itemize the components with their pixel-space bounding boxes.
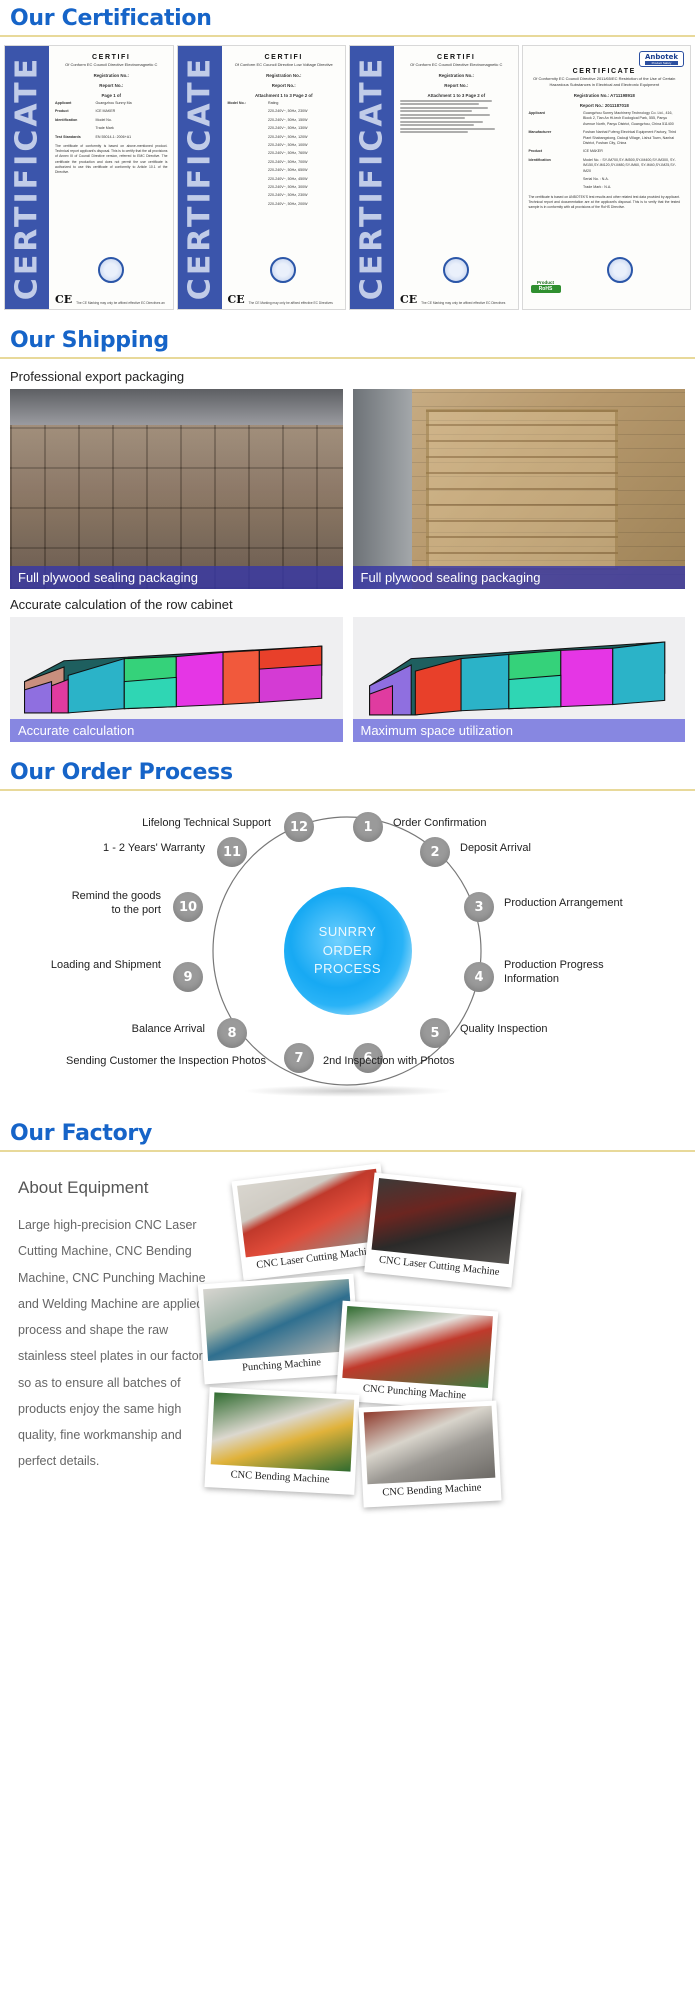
process-core-badge: SUNRRY ORDER PROCESS — [284, 887, 412, 1015]
process-node-9[interactable]: 9 — [173, 962, 203, 992]
row-key — [55, 126, 96, 131]
registration-value: A711198918 — [610, 93, 635, 98]
crate-photo — [353, 389, 686, 589]
rating-value: 220-240V~, 50Hz, 230W — [268, 109, 340, 114]
certificate-card[interactable]: CERTIFICATE CERTIFI Of Conform EC Counci… — [177, 45, 347, 310]
certificate-subtitle: Of Conformity EC Council Directive 2011/… — [529, 76, 681, 88]
certificate-body: Anbotek Product Safety CERTIFICATE Of Co… — [523, 46, 691, 309]
row-key: Applicant — [529, 111, 584, 127]
row-value: Trade Mark — [96, 126, 168, 131]
about-equipment-block: About Equipment Large high-precision CNC… — [10, 1166, 225, 1496]
page-title-factory: Our Factory — [10, 1121, 685, 1146]
certificate-side-band: CERTIFICATE — [5, 46, 49, 309]
section-shipping: Our Shipping Professional export packagi… — [0, 322, 695, 742]
factory-photo-collage: CNC Laser Cutting Machine CNC Laser Cutt… — [229, 1166, 685, 1496]
certificate-title: CERTIFI — [55, 54, 168, 61]
factory-content: About Equipment Large high-precision CNC… — [0, 1160, 695, 1496]
certificate-row: Product ICE MAKER — [55, 109, 168, 114]
rating-value: 220-240V~, 50Hz, 760W — [268, 151, 340, 156]
rating-row: 220-240V~, 50Hz, 100W — [228, 143, 341, 148]
anbotek-tagline: Product Safety — [645, 61, 678, 65]
calculation-diagram-2[interactable]: Maximum space utilization — [353, 617, 686, 742]
certificate-gallery: CERTIFICATE CERTIFI Of Conform EC Counci… — [0, 45, 695, 310]
rohs-main-text: RoHS — [531, 285, 561, 293]
registration-label: Registration No.: — [574, 93, 609, 98]
certificate-registration-label: Registration No.: — [55, 73, 168, 78]
model-label: Model No.: — [228, 101, 269, 106]
about-equipment-heading: About Equipment — [18, 1178, 219, 1198]
certificate-side-band: CERTIFICATE — [350, 46, 394, 309]
process-node-11[interactable]: 11 — [217, 837, 247, 867]
certificate-side-band: CERTIFICATE — [178, 46, 222, 309]
certification-header: Our Certification — [0, 0, 695, 37]
ce-mark-icon: CE — [228, 293, 245, 306]
row-key: Manufacturer — [529, 130, 584, 146]
row-value: Trade Mark : N.A. — [583, 185, 680, 190]
row-value: Serial No. : N.A. — [583, 177, 680, 182]
process-label-11: 1 - 2 Years' Warranty — [103, 842, 205, 856]
process-node-2[interactable]: 2 — [420, 837, 450, 867]
process-node-3[interactable]: 3 — [464, 892, 494, 922]
order-process-header: Our Order Process — [0, 754, 695, 791]
rating-value: 220-240V~, 50Hz, 130W — [268, 126, 340, 131]
certificate-paragraph: The certificate is based on ANBOTEK'S te… — [529, 195, 681, 211]
process-label-7: Sending Customer the Inspection Photos — [66, 1055, 266, 1069]
packaging-photo-1[interactable]: Full plywood sealing packaging — [10, 389, 343, 589]
process-node-4[interactable]: 4 — [464, 962, 494, 992]
row-value: ICE MAKER — [96, 109, 168, 114]
page-title-shipping: Our Shipping — [10, 328, 685, 353]
rating-row: 220-240V~, 50Hz, 120W — [228, 135, 341, 140]
certificate-row: Applicant Guangzhou Sunrry Ma — [55, 101, 168, 106]
row-value: Foshan Nanhai Fufeng Electrical Equipmen… — [583, 130, 680, 146]
process-label-1: Order Confirmation — [393, 817, 487, 831]
process-label-6: 2nd Inspection with Photos — [323, 1055, 454, 1069]
rating-row: 220-240V~, 50Hz, 760W — [228, 151, 341, 156]
process-label-3: Production Arrangement — [504, 897, 623, 911]
certificate-band-text: CERTIFICATE — [355, 55, 390, 299]
ce-note: The CE Marking may only be affixed effec… — [249, 301, 339, 306]
rating-value: 220-240V~, 50Hz, 100W — [268, 143, 340, 148]
calculation-photo-row: Accurate calculation — [0, 617, 695, 742]
process-node-12[interactable]: 12 — [284, 812, 314, 842]
anbotek-name: Anbotek — [645, 53, 678, 61]
process-label-9: Loading and Shipment — [51, 959, 161, 973]
rating-row: 220-240V~, 50Hz, 130W — [228, 126, 341, 131]
process-label-2: Deposit Arrival — [460, 842, 531, 856]
process-label-8: Balance Arrival — [132, 1023, 205, 1037]
process-label-12: Lifelong Technical Support — [142, 817, 271, 831]
process-label-10: Remind the goods to the port — [61, 890, 161, 918]
rating-value: 220-240V~, 50Hz, 450W — [268, 177, 340, 182]
certificate-seal-icon — [270, 257, 296, 283]
certificate-title: CERTIFICATE — [529, 68, 681, 75]
certificate-title: CERTIFI — [400, 54, 513, 61]
certificate-seal-icon — [98, 257, 124, 283]
order-process-diagram: SUNRRY ORDER PROCESS 1 2 3 4 5 6 7 8 9 1… — [0, 799, 695, 1109]
certificate-title: CERTIFI — [228, 54, 341, 61]
packaging-photo-2[interactable]: Full plywood sealing packaging — [353, 389, 686, 589]
warehouse-photo — [10, 389, 343, 589]
anbotek-logo-icon: Anbotek Product Safety — [639, 51, 684, 67]
core-line-2: ORDER — [323, 942, 372, 961]
row-key: Applicant — [55, 101, 96, 106]
certificate-body: CERTIFI Of Conform EC Council Directive … — [222, 46, 346, 309]
certificate-row: Identification Model No. : SY-IM700,SY-I… — [529, 158, 681, 174]
factory-photo-5[interactable]: CNC Bending Machine — [204, 1387, 359, 1494]
certificate-row: Product ICE MAKER — [529, 149, 681, 154]
about-equipment-body: Large high-precision CNC Laser Cutting M… — [18, 1212, 219, 1475]
certificate-row: Serial No. : N.A. — [529, 177, 681, 182]
certificate-card[interactable]: CERTIFICATE CERTIFI Of Conform EC Counci… — [349, 45, 519, 310]
row-key: Identification — [55, 118, 96, 123]
section-certification: Our Certification CERTIFICATE CERTIFI Of… — [0, 0, 695, 310]
core-line-1: SUNRRY — [319, 923, 377, 942]
punching-machine-photo — [203, 1279, 354, 1361]
row-key: Product — [529, 149, 584, 154]
report-label: Report No.: — [580, 103, 604, 108]
factory-photo-2[interactable]: CNC Laser Cutting Machine — [364, 1173, 522, 1288]
ratings-header: Model No.: Rating — [228, 101, 341, 106]
row-value: Guangzhou Sunrry Ma — [96, 101, 168, 106]
certificate-report-label: Report No.: — [55, 83, 168, 88]
certificate-row: Identification Model No. — [55, 118, 168, 123]
certificate-page: Attachment 1 to 3 Page 2 of — [400, 93, 513, 98]
calculation-diagram-1[interactable]: Accurate calculation — [10, 617, 343, 742]
certificate-row: Trade Mark : N.A. — [529, 185, 681, 190]
rating-row: 220-240V~, 50Hz, 450W — [228, 177, 341, 182]
core-line-3: PROCESS — [314, 960, 381, 979]
rating-value: 220-240V~, 50Hz, 120W — [268, 135, 340, 140]
certificate-footer: CE The CE Marking may only be affixed ef… — [55, 293, 167, 306]
packaging-photo-row: Full plywood sealing packaging Full plyw… — [0, 389, 695, 589]
shipping-subtitle-packaging: Professional export packaging — [0, 367, 695, 389]
certificate-band-text: CERTIFICATE — [10, 55, 45, 299]
process-label-4: Production Progress Information — [504, 959, 634, 987]
rating-value: 220-240V~, 50Hz, 200W — [268, 202, 340, 207]
certificate-registration-label: Registration No.: — [400, 73, 513, 78]
certificate-row: Manufacturer Foshan Nanhai Fufeng Electr… — [529, 130, 681, 146]
certificate-subtitle: Of Conform EC Council Directive Electrom… — [55, 62, 168, 68]
photo-caption: Accurate calculation — [10, 719, 343, 742]
page-title-certification: Our Certification — [10, 6, 685, 31]
ce-mark-icon: CE — [400, 293, 417, 306]
certificate-body: CERTIFI Of Conform EC Council Directive … — [49, 46, 173, 309]
rating-row: 220-240V~, 50Hz, 300W — [228, 185, 341, 190]
row-value: Model No. : SY-IM700,SY-IM500,SY-IM400,S… — [583, 158, 680, 174]
photo-caption: Maximum space utilization — [353, 719, 686, 742]
process-node-5[interactable]: 5 — [420, 1018, 450, 1048]
certificate-row: Applicant Guangzhou Sunrry Machinery Tec… — [529, 111, 681, 127]
rating-row: 220-240V~, 50Hz, 230W — [228, 193, 341, 198]
rating-value: 220-240V~, 50Hz, 230W — [268, 193, 340, 198]
photo-caption: Full plywood sealing packaging — [353, 566, 686, 589]
rating-value: 220-240V~, 50Hz, 700W — [268, 160, 340, 165]
certificate-subtitle: Of Conform EC Council Directive Low Volt… — [228, 62, 341, 68]
rohs-logo-icon: Product RoHS — [531, 280, 561, 293]
rating-row: 220-240V~, 50Hz, 650W — [228, 168, 341, 173]
row-value: EN 55014-1: 2006+A1 — [96, 135, 168, 140]
certificate-band-text: CERTIFICATE — [182, 55, 217, 299]
rating-value: 220-240V~, 50Hz, 650W — [268, 168, 340, 173]
row-value: ICE MAKER — [583, 149, 680, 154]
rating-row: 220-240V~, 50Hz, 150W — [228, 118, 341, 123]
factory-photo-4[interactable]: CNC Punching Machine — [336, 1301, 499, 1411]
shipping-subtitle-calculation: Accurate calculation of the row cabinet — [0, 589, 695, 617]
certificate-registration-label: Registration No.: — [228, 73, 341, 78]
rating-row: 220-240V~, 50Hz, 230W — [228, 109, 341, 114]
certificate-card-rohs[interactable]: Anbotek Product Safety CERTIFICATE Of Co… — [522, 45, 692, 310]
row-value: Model No. — [96, 118, 168, 123]
ce-note: The CE Marking may only be affixed effec… — [421, 301, 511, 306]
page-title-order-process: Our Order Process — [10, 760, 685, 785]
core-shadow — [243, 1085, 453, 1097]
rating-value: 220-240V~, 50Hz, 150W — [268, 118, 340, 123]
factory-photo-3[interactable]: Punching Machine — [198, 1274, 361, 1384]
section-order-process: Our Order Process SUNRRY ORDER PROCESS 1… — [0, 754, 695, 1109]
certificate-seal-icon — [607, 257, 633, 283]
certificate-report-label: Report No.: — [400, 83, 513, 88]
rating-row: 220-240V~, 50Hz, 200W — [228, 202, 341, 207]
certificate-footer: CE The CE Marking may only be affixed ef… — [400, 293, 512, 306]
process-node-1[interactable]: 1 — [353, 812, 383, 842]
report-value: 2011187018 — [605, 103, 629, 108]
certificate-card[interactable]: CERTIFICATE CERTIFI Of Conform EC Counci… — [4, 45, 174, 310]
cnc-bending-machine-photo — [364, 1406, 496, 1485]
ratings-label: Rating — [268, 101, 340, 106]
process-node-10[interactable]: 10 — [173, 892, 203, 922]
process-node-7[interactable]: 7 — [284, 1043, 314, 1073]
factory-header: Our Factory — [0, 1115, 695, 1152]
certificate-row: Test Standards EN 55014-1: 2006+A1 — [55, 135, 168, 140]
certificate-footer: CE The CE Marking may only be affixed ef… — [228, 293, 340, 306]
photo-caption: Full plywood sealing packaging — [10, 566, 343, 589]
row-key: Test Standards — [55, 135, 96, 140]
rating-row: 220-240V~, 50Hz, 700W — [228, 160, 341, 165]
section-factory: Our Factory About Equipment Large high-p… — [0, 1115, 695, 1496]
factory-photo-6[interactable]: CNC Bending Machine — [358, 1400, 501, 1507]
certificate-body: CERTIFI Of Conform EC Council Directive … — [394, 46, 518, 309]
certificate-row: Trade Mark — [55, 126, 168, 131]
certificate-paragraph: The certificate of conformity is based o… — [55, 144, 168, 176]
certificate-subtitle: Of Conform EC Council Directive Electrom… — [400, 62, 513, 68]
process-node-8[interactable]: 8 — [217, 1018, 247, 1048]
process-label-5: Quality Inspection — [460, 1023, 547, 1037]
ce-mark-icon: CE — [55, 293, 72, 306]
rating-value: 220-240V~, 50Hz, 300W — [268, 185, 340, 190]
certificate-seal-icon — [443, 257, 469, 283]
shipping-header: Our Shipping — [0, 322, 695, 359]
cnc-bending-machine-photo — [211, 1392, 355, 1471]
row-value: Guangzhou Sunrry Machinery Technology Co… — [583, 111, 680, 127]
ce-note: The CE Marking may only be affixed effec… — [76, 301, 166, 306]
certificate-report-label: Report No.: — [228, 83, 341, 88]
cnc-punching-machine-photo — [342, 1306, 493, 1388]
registration-line: Registration No.: A711198918 — [529, 93, 681, 98]
certificate-page: Page 1 of — [55, 93, 168, 98]
certificate-page: Attachment 1 to 3 Page 2 of — [228, 93, 341, 98]
report-line: Report No.: 2011187018 — [529, 103, 681, 108]
row-key: Product — [55, 109, 96, 114]
row-key: Identification — [529, 158, 584, 174]
